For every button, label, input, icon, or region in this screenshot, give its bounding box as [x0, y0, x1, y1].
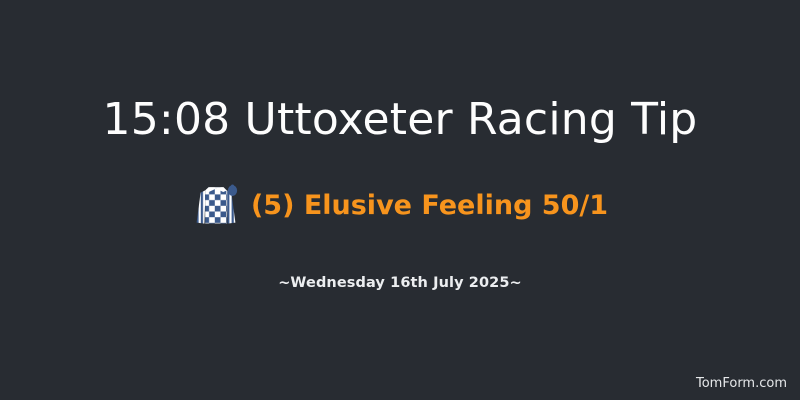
race-date: ~Wednesday 16th July 2025~: [278, 275, 522, 292]
racing-tip-card: 15:08 Uttoxeter Racing Tip: [0, 0, 800, 400]
tip-inner: (5) Elusive Feeling 50/1: [192, 183, 608, 227]
title-row: 15:08 Uttoxeter Racing Tip: [0, 96, 800, 144]
jockey-silk-icon: [192, 183, 240, 227]
tip-selection-text: (5) Elusive Feeling 50/1: [251, 191, 608, 221]
tip-row: (5) Elusive Feeling 50/1: [0, 183, 800, 231]
site-watermark: TomForm.com: [696, 376, 787, 392]
jockey-silk-svg: [192, 183, 240, 227]
page-title: 15:08 Uttoxeter Racing Tip: [103, 96, 698, 144]
date-row: ~Wednesday 16th July 2025~: [0, 272, 800, 292]
silk-cap-button: [231, 185, 234, 188]
